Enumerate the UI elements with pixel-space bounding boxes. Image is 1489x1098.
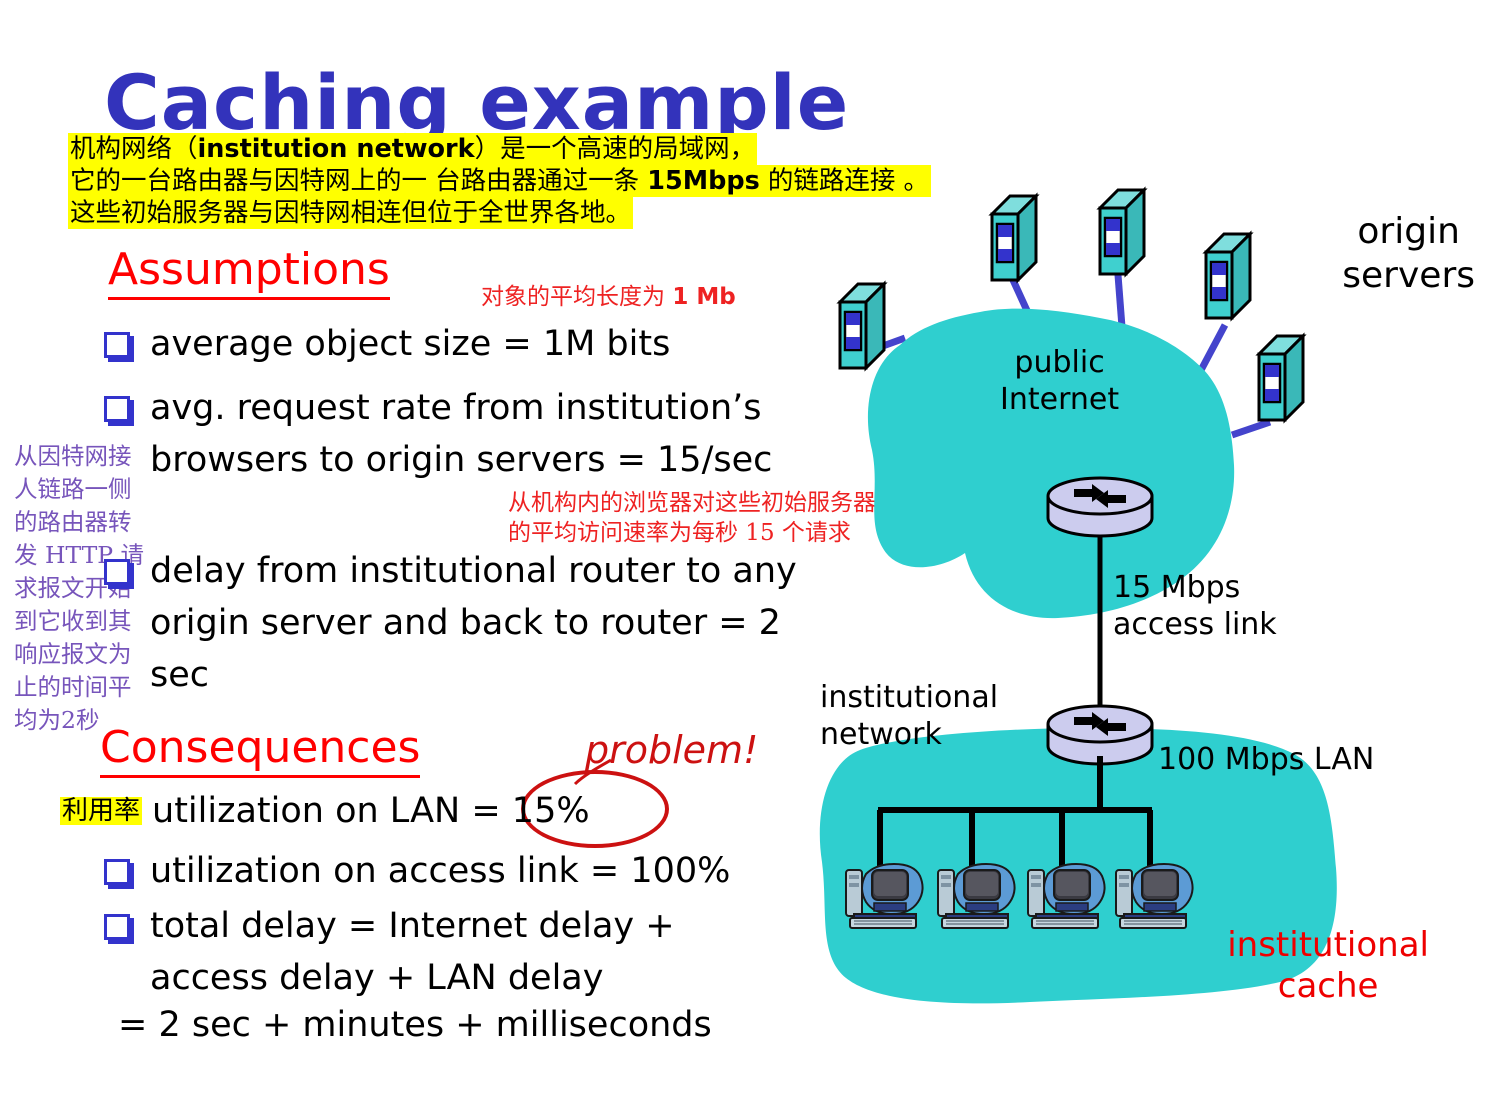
access-link-label: 15 Mbps access link [1113,570,1277,643]
list-item: average object size = 1M bits [104,318,804,370]
internet-router-icon [1048,478,1152,536]
pc-icon [1028,864,1105,928]
total-delay-sum-line: = 2 sec + minutes + milliseconds [118,1005,712,1045]
problem-pointer-line [573,758,613,786]
institutional-cache-label: institutional cache [1227,925,1429,1008]
origin-servers-label: origin servers [1342,210,1475,298]
list-item: delay from institutional router to any o… [104,545,804,701]
list-item-label: utilization on LAN = 15% [152,785,590,837]
square-bullet-icon [104,914,130,940]
list-item: 利用率 utilization on LAN = 15% [60,785,760,837]
square-bullet-icon [104,559,130,585]
pc-icon [1116,864,1193,928]
list-item: total delay = Internet delay + access de… [104,900,784,1004]
list-item-label: average object size = 1M bits [150,318,670,370]
origin-server-icon [840,284,884,368]
origin-server-icon [1206,234,1250,318]
pc-icon [846,864,923,928]
origin-server-icon [1259,336,1303,420]
list-item: utilization on access link = 100% [104,845,804,897]
annotation-object-size-cjk: 对象的平均长度为 1 Mb [481,283,736,311]
slide-canvas: Caching example 机构网络（institution network… [0,0,1489,1098]
origin-server-icon [1100,190,1144,274]
consequences-heading: Consequences [100,722,420,773]
list-item-cjk-tag: 利用率 [60,797,142,825]
origin-server-icon [992,196,1036,280]
square-bullet-icon [104,396,130,422]
list-item-label: avg. request rate from institution’s bro… [150,382,804,486]
list-item-label: utilization on access link = 100% [150,845,730,897]
institutional-router-icon [1048,706,1152,764]
network-diagram: origin servers public Internet 15 Mbps a… [800,150,1489,1050]
institutional-network-label: institutional network [820,680,998,753]
public-internet-label: public Internet [1000,345,1119,418]
square-bullet-icon [104,859,130,885]
list-item-label: total delay = Internet delay + access de… [150,900,784,1004]
pc-icon [938,864,1015,928]
square-bullet-icon [104,332,130,358]
list-item-label: delay from institutional router to any o… [150,545,804,701]
list-item: avg. request rate from institution’s bro… [104,382,804,486]
lan-label: 100 Mbps LAN [1158,742,1374,779]
assumptions-heading: Assumptions [108,244,390,295]
